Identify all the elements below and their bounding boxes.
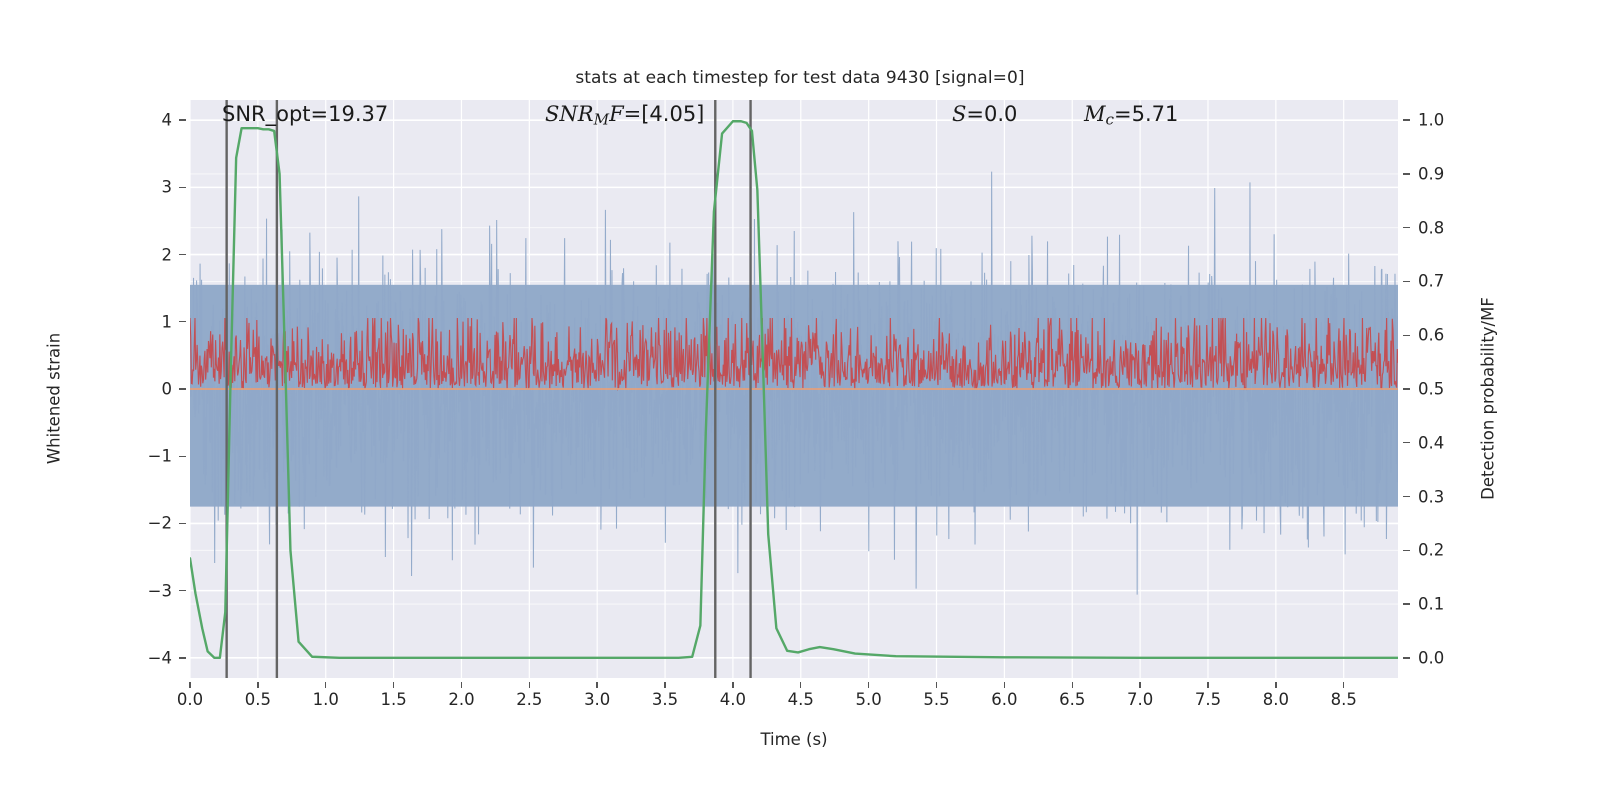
x-tick-2: 1.0 [313, 690, 339, 709]
tick-mark [1403, 496, 1410, 497]
tick-mark [179, 187, 186, 188]
x-tick-9: 4.5 [788, 690, 814, 709]
tick-mark [1403, 388, 1410, 389]
y-tick-right-2: 0.8 [1418, 218, 1478, 237]
y-tick-right-6: 0.4 [1418, 433, 1478, 452]
tick-mark [1403, 603, 1410, 604]
plot-svg [190, 100, 1398, 678]
tick-mark [1207, 682, 1208, 688]
y-tick-left-0: 4 [120, 111, 172, 130]
x-tick-16: 8.0 [1263, 690, 1289, 709]
tick-mark [529, 682, 530, 688]
x-tick-5: 2.5 [516, 690, 542, 709]
tick-mark [179, 523, 186, 524]
y-axis-label-left: Whitened strain [45, 249, 64, 549]
annotation-snr-opt: SNR_opt=19.37 [222, 102, 388, 126]
y-tick-right-7: 0.3 [1418, 487, 1478, 506]
tick-mark [179, 254, 186, 255]
y-tick-left-5: −1 [120, 447, 172, 466]
annotation-s-statistic: S=0.0 [952, 102, 1017, 126]
x-tick-17: 8.5 [1331, 690, 1357, 709]
y-tick-left-1: 3 [120, 178, 172, 197]
x-tick-3: 1.5 [380, 690, 406, 709]
tick-mark [1072, 682, 1073, 688]
y-tick-left-7: −3 [120, 581, 172, 600]
x-tick-11: 5.5 [923, 690, 949, 709]
x-tick-6: 3.0 [584, 690, 610, 709]
tick-mark [1139, 682, 1140, 688]
x-axis-label: Time (s) [190, 730, 1398, 749]
tick-mark [179, 657, 186, 658]
tick-mark [1343, 682, 1344, 688]
y-tick-right-10: 0.0 [1418, 648, 1478, 667]
y-tick-right-3: 0.7 [1418, 272, 1478, 291]
annotation-snr-mf: SNRMF=[4.05] [545, 102, 704, 128]
y-tick-left-8: −4 [120, 648, 172, 667]
y-tick-right-0: 1.0 [1418, 111, 1478, 130]
tick-mark [596, 682, 597, 688]
y-tick-right-8: 0.2 [1418, 541, 1478, 560]
tick-mark [257, 682, 258, 688]
tick-mark [179, 456, 186, 457]
tick-mark [1403, 281, 1410, 282]
y-tick-right-5: 0.5 [1418, 380, 1478, 399]
x-tick-1: 0.5 [245, 690, 271, 709]
figure-canvas: stats at each timestep for test data 943… [0, 0, 1600, 800]
annotation-chirp-mass: Mc=5.71 [1084, 102, 1178, 128]
tick-mark [1403, 442, 1410, 443]
chart-title: stats at each timestep for test data 943… [0, 68, 1600, 88]
tick-mark [1004, 682, 1005, 688]
tick-mark [1403, 227, 1410, 228]
tick-mark [936, 682, 937, 688]
tick-mark [732, 682, 733, 688]
x-tick-7: 3.5 [652, 690, 678, 709]
y-tick-left-6: −2 [120, 514, 172, 533]
tick-mark [1275, 682, 1276, 688]
x-tick-0: 0.0 [177, 690, 203, 709]
tick-mark [868, 682, 869, 688]
tick-mark [393, 682, 394, 688]
x-tick-10: 5.0 [856, 690, 882, 709]
tick-mark [461, 682, 462, 688]
plot-axes-area[interactable]: SNR_opt=19.37 SNRMF=[4.05] S=0.0 Mc=5.71… [190, 100, 1398, 678]
tick-mark [1403, 173, 1410, 174]
tick-mark [179, 590, 186, 591]
tick-mark [664, 682, 665, 688]
x-tick-8: 4.0 [720, 690, 746, 709]
x-tick-12: 6.0 [991, 690, 1017, 709]
tick-mark [1403, 119, 1410, 120]
tick-mark [800, 682, 801, 688]
y-tick-left-4: 0 [120, 380, 172, 399]
tick-mark [1403, 335, 1410, 336]
y-tick-right-1: 0.9 [1418, 164, 1478, 183]
y-tick-left-3: 1 [120, 312, 172, 331]
tick-mark [325, 682, 326, 688]
x-tick-15: 7.5 [1195, 690, 1221, 709]
y-tick-right-4: 0.6 [1418, 326, 1478, 345]
x-tick-4: 2.0 [448, 690, 474, 709]
tick-mark [179, 119, 186, 120]
tick-mark [1403, 657, 1410, 658]
tick-mark [189, 682, 190, 688]
tick-mark [179, 321, 186, 322]
x-tick-14: 7.0 [1127, 690, 1153, 709]
tick-mark [179, 388, 186, 389]
y-axis-label-right: Detection probability/MF [1479, 249, 1498, 549]
y-tick-left-2: 2 [120, 245, 172, 264]
x-tick-13: 6.5 [1059, 690, 1085, 709]
tick-mark [1403, 550, 1410, 551]
y-tick-right-9: 0.1 [1418, 595, 1478, 614]
